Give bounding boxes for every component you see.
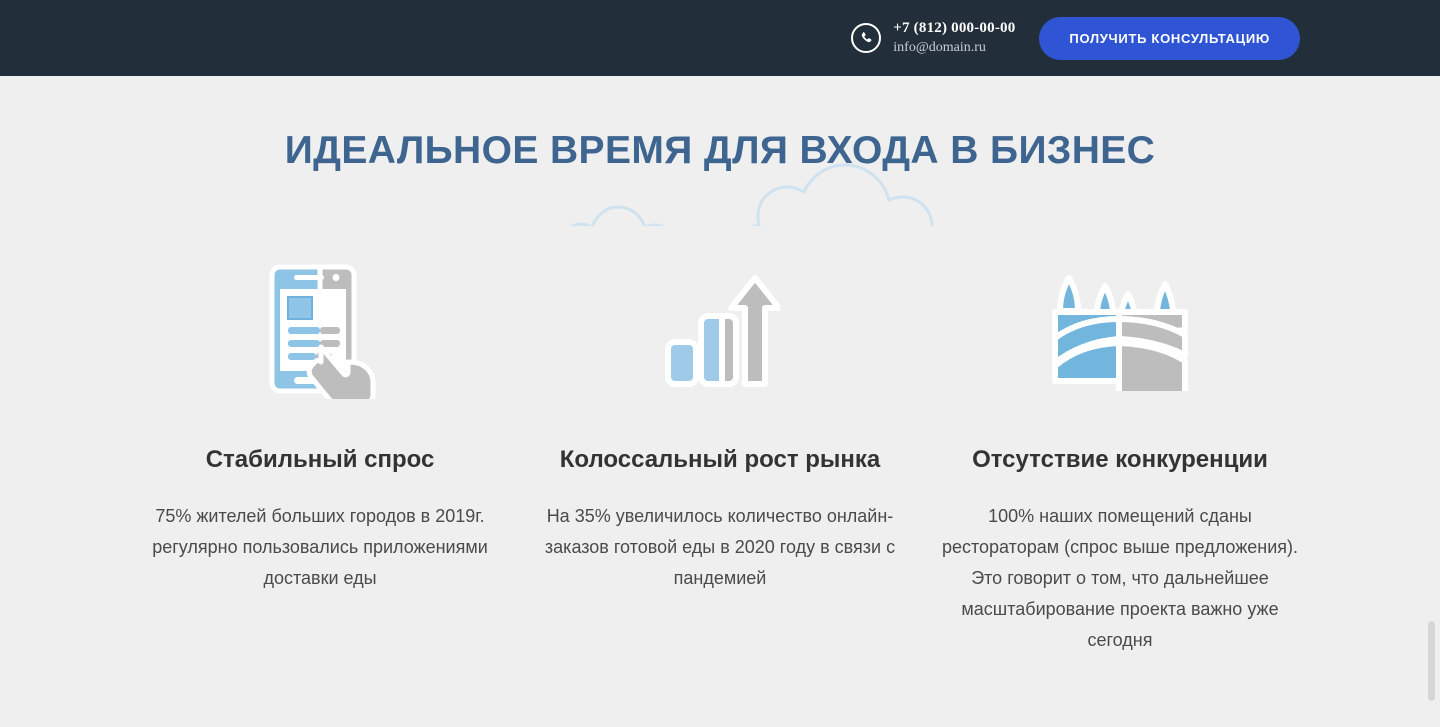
- get-consultation-button[interactable]: ПОЛУЧИТЬ КОНСУЛЬТАЦИЮ: [1039, 17, 1300, 60]
- fields-landscape-icon: [1045, 256, 1195, 401]
- section-title-area: ИДЕАЛЬНОЕ ВРЕМЯ ДЛЯ ВХОДА В БИЗНЕС: [0, 76, 1440, 226]
- phone-number[interactable]: +7 (812) 000-00-00: [893, 19, 1015, 38]
- contact-block: +7 (812) 000-00-00 info@domain.ru: [851, 19, 1015, 56]
- card-text: На 35% увеличилось количество онлайн-зак…: [540, 501, 900, 594]
- card-title: Стабильный спрос: [206, 446, 435, 475]
- scrollbar-thumb[interactable]: [1428, 621, 1435, 701]
- phone-icon: [851, 23, 881, 53]
- header-right-group: +7 (812) 000-00-00 info@domain.ru ПОЛУЧИ…: [851, 17, 1440, 60]
- smartphone-hand-icon: [258, 256, 383, 401]
- benefit-card-no-competition: Отсутствие конкуренции 100% наших помеще…: [920, 256, 1320, 656]
- card-text: 100% наших помещений сданы рестораторам …: [930, 501, 1310, 656]
- benefits-card-row: Стабильный спрос 75% жителей больших гор…: [0, 256, 1440, 656]
- page-scrollbar[interactable]: [1428, 76, 1438, 727]
- card-text: 75% жителей больших городов в 2019г. рег…: [140, 501, 500, 594]
- bar-chart-growth-arrow-icon: [660, 256, 780, 401]
- site-header: +7 (812) 000-00-00 info@domain.ru ПОЛУЧИ…: [0, 0, 1440, 76]
- card-title: Отсутствие конкуренции: [972, 446, 1268, 475]
- card-title: Колоссальный рост рынка: [560, 446, 881, 475]
- page-title: ИДЕАЛЬНОЕ ВРЕМЯ ДЛЯ ВХОДА В БИЗНЕС: [285, 129, 1156, 173]
- benefit-card-stable-demand: Стабильный спрос 75% жителей больших гор…: [120, 256, 520, 594]
- email-address[interactable]: info@domain.ru: [893, 39, 1015, 57]
- benefit-card-market-growth: Колоссальный рост рынка На 35% увеличило…: [520, 256, 920, 594]
- contact-text: +7 (812) 000-00-00 info@domain.ru: [893, 19, 1015, 56]
